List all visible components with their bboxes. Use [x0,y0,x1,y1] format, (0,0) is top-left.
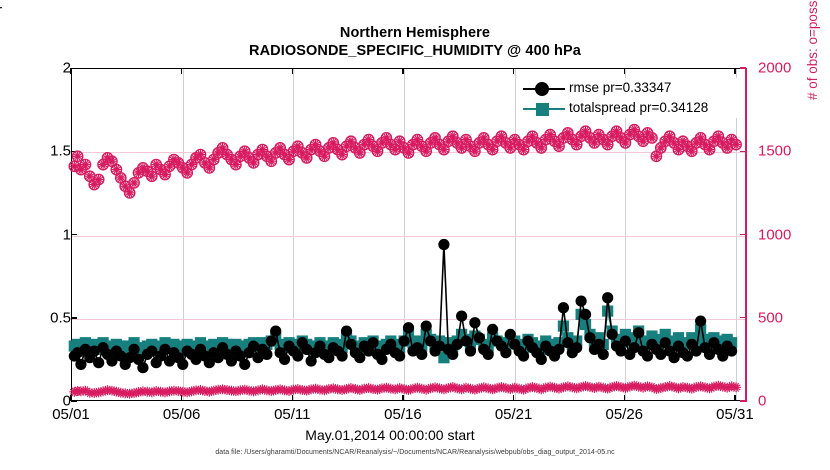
x-tick-mark [181,395,182,401]
gridline-vertical [404,69,405,400]
title-line-1: Northern Hemisphere [0,24,830,42]
x-tick-mark [402,395,403,401]
legend: rmse pr=0.33347 totalspread pr=0.34128 [516,78,744,118]
x-tick-mark [734,395,735,401]
x-tick-mark [292,395,293,401]
y-tick-mark-left [71,317,77,318]
chart-title: Northern Hemisphere RADIOSONDE_SPECIFIC_… [0,24,830,61]
x-tick-mark-top [70,68,71,74]
y-tick-mark-right [740,151,746,152]
x-tick-mark-top [181,68,182,74]
y-tick-label-right: 1500 [750,143,828,160]
y-tick-mark-left [71,151,77,152]
gridline-horizontal [72,236,745,237]
gridline-horizontal [72,319,745,320]
y-tick-label-left: 2 [11,60,78,77]
gridline-horizontal [72,152,745,153]
x-tick-mark-top [624,68,625,74]
y-tick-label-left: 1.5 [11,143,78,160]
gridline-vertical [183,69,184,400]
title-line-2: RADIOSONDE_SPECIFIC_HUMIDITY @ 400 hPa [0,42,830,61]
y-tick-mark-left [71,68,77,69]
x-tick-mark [624,395,625,401]
y-axis-left-label: rmse and totalspread [0,0,2,105]
y-tick-mark-right [740,234,746,235]
legend-marker-circle-icon [521,79,567,99]
gridline-vertical [293,69,294,400]
x-tick-label: 05/11 [257,406,327,423]
y-tick-mark-right [740,67,746,68]
y-tick-mark-right [740,400,746,401]
x-axis-label: May.01,2014 00:00:00 start [0,427,780,443]
y-tick-mark-left [71,234,77,235]
y-axis-right-label: # of obs: o=possible; *=evaluated [805,0,820,100]
x-tick-mark-top [513,68,514,74]
y-tick-label-right: 500 [750,309,828,326]
y-tick-mark-left [71,401,77,402]
x-tick-label: 05/06 [147,406,217,423]
x-tick-label: 05/31 [700,406,770,423]
legend-item-rmse[interactable]: rmse pr=0.33347 [517,79,743,99]
x-tick-label: 05/01 [36,406,106,423]
legend-label-rmse: rmse pr=0.33347 [569,80,671,95]
legend-item-totalspread[interactable]: totalspread pr=0.34128 [517,99,743,119]
x-tick-mark-top [402,68,403,74]
x-tick-label: 05/21 [479,406,549,423]
legend-label-totalspread: totalspread pr=0.34128 [569,100,708,115]
legend-marker-square-icon [521,99,567,119]
y-tick-label-left: 0.5 [11,309,78,326]
data-file-footer: data file: /Users/gharamti/Documents/NCA… [0,449,830,456]
x-tick-label: 05/26 [589,406,659,423]
x-tick-label: 05/16 [368,406,438,423]
y-tick-mark-right [740,317,746,318]
x-tick-mark-top [292,68,293,74]
y-tick-label-left: 1 [11,226,78,243]
x-tick-mark [513,395,514,401]
x-tick-mark [70,395,71,401]
gridline-vertical [515,69,516,400]
y-tick-label-right: 1000 [750,226,828,243]
x-tick-mark-top [734,68,735,74]
